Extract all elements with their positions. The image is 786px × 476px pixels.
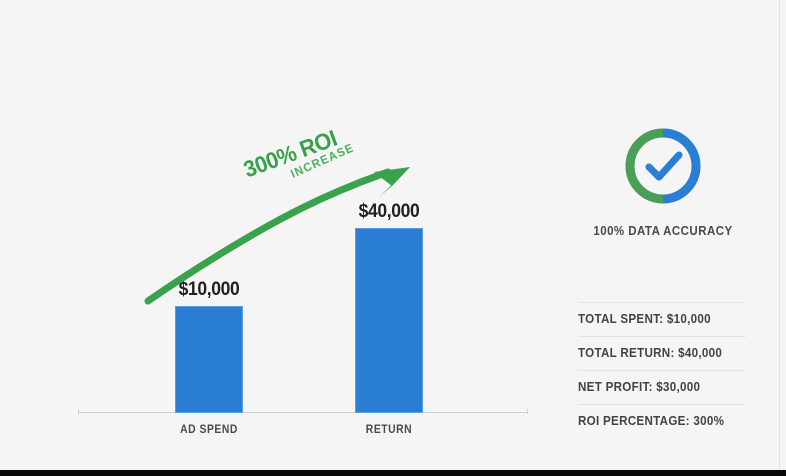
roi-annotation: 300% ROI INCREASE (240, 119, 360, 195)
growth-arrow-icon (0, 0, 540, 476)
axis-label-ad-spend: AD SPEND (165, 424, 253, 436)
chart-baseline (78, 412, 528, 413)
data-accuracy-badge: 100% DATA ACCURACY (578, 126, 748, 238)
data-accuracy-caption: 100% DATA ACCURACY (585, 224, 741, 238)
check-circle-icon (623, 126, 703, 206)
axis-tick-left (78, 409, 79, 414)
bar-return (355, 228, 423, 413)
bar-chart: $10,000 $40,000 AD SPEND RETURN 300% ROI… (0, 0, 540, 476)
axis-tick-right (527, 409, 528, 414)
stat-row-net-profit: NET PROFIT: $30,000 (578, 370, 745, 404)
bar-value-return: $40,000 (344, 201, 434, 223)
stat-row-roi-percentage: ROI PERCENTAGE: 300% (578, 404, 745, 438)
bar-value-ad-spend: $10,000 (164, 279, 254, 301)
stat-row-total-return: TOTAL RETURN: $40,000 (578, 336, 745, 370)
roi-infographic-slide: $10,000 $40,000 AD SPEND RETURN 300% ROI… (0, 0, 786, 476)
axis-label-return: RETURN (345, 424, 433, 436)
stats-list: TOTAL SPENT: $10,000 TOTAL RETURN: $40,0… (578, 302, 758, 438)
bar-ad-spend (175, 306, 243, 413)
stat-row-total-spent: TOTAL SPENT: $10,000 (578, 302, 745, 336)
frame-seam (779, 0, 780, 476)
video-letterbox (0, 470, 786, 476)
